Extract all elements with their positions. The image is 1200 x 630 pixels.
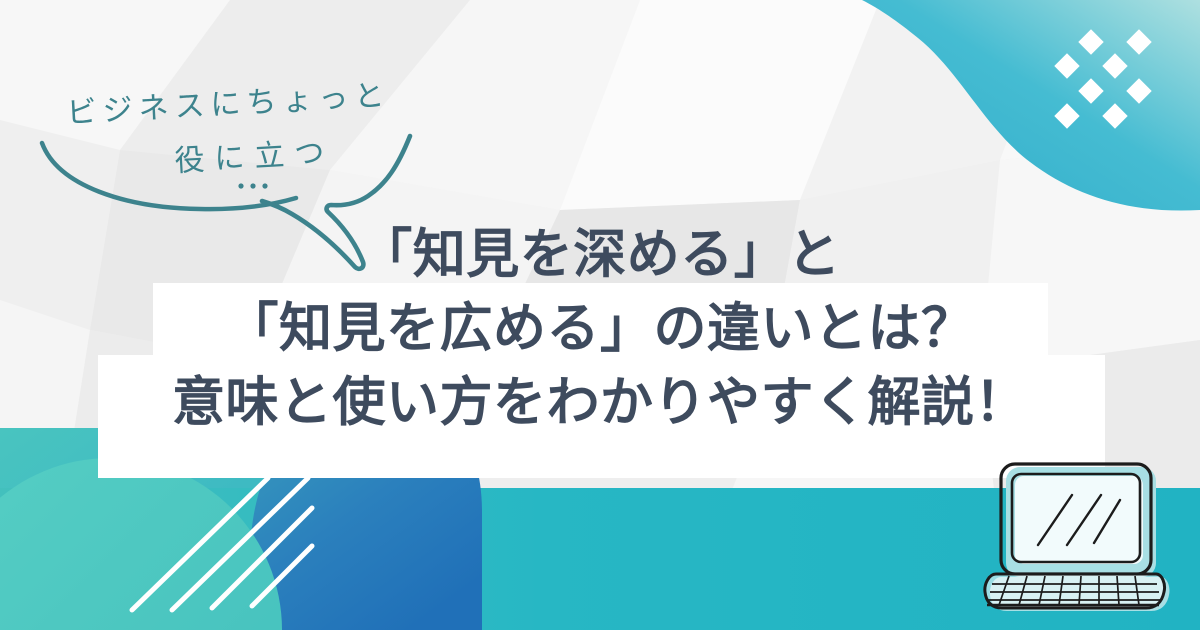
thumbnail-canvas: 「知見を深める」と 「知見を広める」の違いとは？ 意味と使い方をわかりやすく解説… — [0, 0, 1200, 630]
catch-copy: ビジネスにちょっと 役に立つ — [37, 67, 422, 196]
laptop-screen — [1015, 476, 1143, 564]
laptop-illustration — [975, 455, 1175, 620]
